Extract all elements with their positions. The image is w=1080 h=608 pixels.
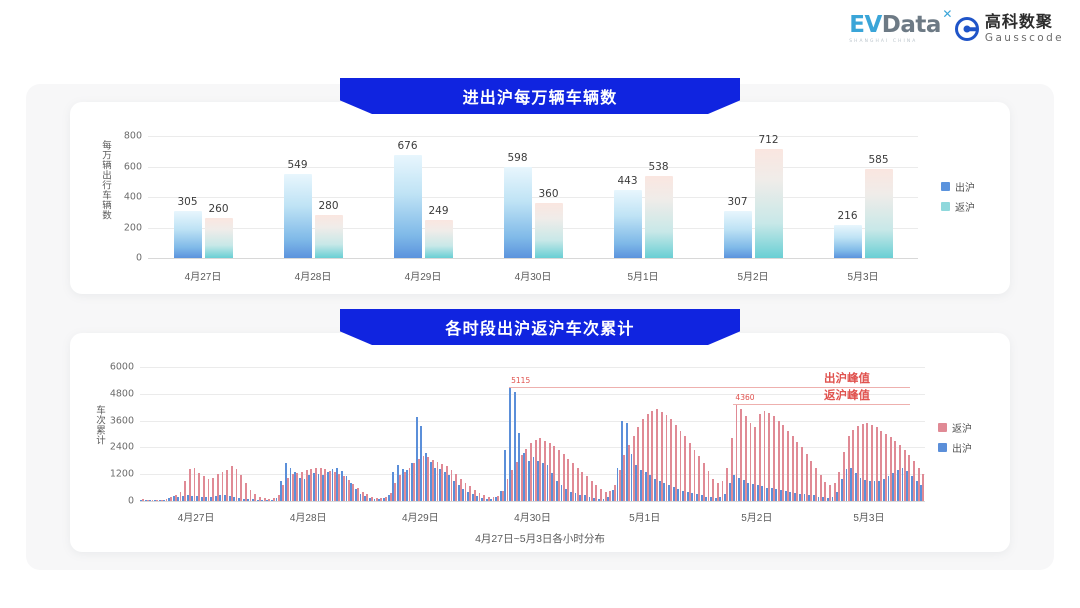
hourly-bar-fanhu	[801, 447, 803, 501]
peak-guide-line	[733, 404, 910, 405]
peak-name-label: 出沪峰值	[824, 370, 870, 386]
hourly-bar-fanhu	[782, 425, 784, 501]
legend-label: 出沪	[952, 440, 972, 455]
chart-bottom-x-tick: 5月3日	[853, 509, 884, 524]
chart-bottom-x-tick: 4月30日	[514, 509, 551, 524]
hourly-bar-fanhu	[922, 474, 924, 501]
chart-top-title-banner: 进出沪每万辆车辆数	[340, 78, 740, 114]
chart-bottom-y-tick: 0	[100, 496, 134, 507]
chart-bottom-gridline	[140, 421, 925, 422]
hourly-bar-fanhu	[792, 436, 794, 501]
chart-bottom-x-caption: 4月27日~5月3日各小时分布	[475, 531, 605, 546]
chart-bottom-y-tick: 2400	[100, 442, 134, 453]
hourly-bar-fanhu	[773, 416, 775, 501]
hourly-bar-fanhu	[694, 450, 696, 501]
chart-bottom-x-tick: 4月27日	[178, 509, 215, 524]
chart-bottom-gridline	[140, 367, 925, 368]
legend-swatch	[938, 423, 947, 432]
chart-bottom-x-tick: 5月1日	[629, 509, 660, 524]
chart-bottom-y-tick: 4800	[100, 388, 134, 399]
peak-name-label: 返沪峰值	[824, 387, 870, 403]
chart-bottom-gridline	[140, 501, 925, 502]
chart-bottom-x-tick: 4月28日	[290, 509, 327, 524]
peak-value-label: 5115	[511, 376, 530, 385]
chart-bottom-x-tick: 4月29日	[402, 509, 439, 524]
legend-item[interactable]: 出沪	[938, 440, 972, 455]
chart-bottom-y-tick: 6000	[100, 362, 134, 373]
peak-value-label: 4360	[735, 393, 754, 402]
legend-item[interactable]: 返沪	[938, 420, 972, 435]
chart-bottom-y-tick: 3600	[100, 415, 134, 426]
legend-label: 返沪	[952, 420, 972, 435]
hourly-bar-fanhu	[703, 463, 705, 501]
hourly-bar-fanhu	[796, 442, 798, 501]
hourly-bar-fanhu	[806, 454, 808, 501]
hourly-bar-fanhu	[240, 475, 242, 501]
hourly-bar-fanhu	[245, 483, 247, 501]
hourly-bar-fanhu	[778, 421, 780, 501]
hourly-bar-fanhu	[787, 431, 789, 501]
chart-bottom-y-tick: 1200	[100, 469, 134, 480]
hourly-bar-fanhu	[231, 466, 233, 501]
chart-bottom-gridline	[140, 394, 925, 395]
chart-bottom-title-banner: 各时段出沪返沪车次累计	[340, 309, 740, 345]
legend-swatch	[938, 443, 947, 452]
chart-bottom-legend: 返沪出沪	[938, 420, 972, 460]
hourly-bar-fanhu	[236, 469, 238, 501]
chart-bottom-x-tick: 5月2日	[741, 509, 772, 524]
chart-bottom-gridline	[140, 447, 925, 448]
